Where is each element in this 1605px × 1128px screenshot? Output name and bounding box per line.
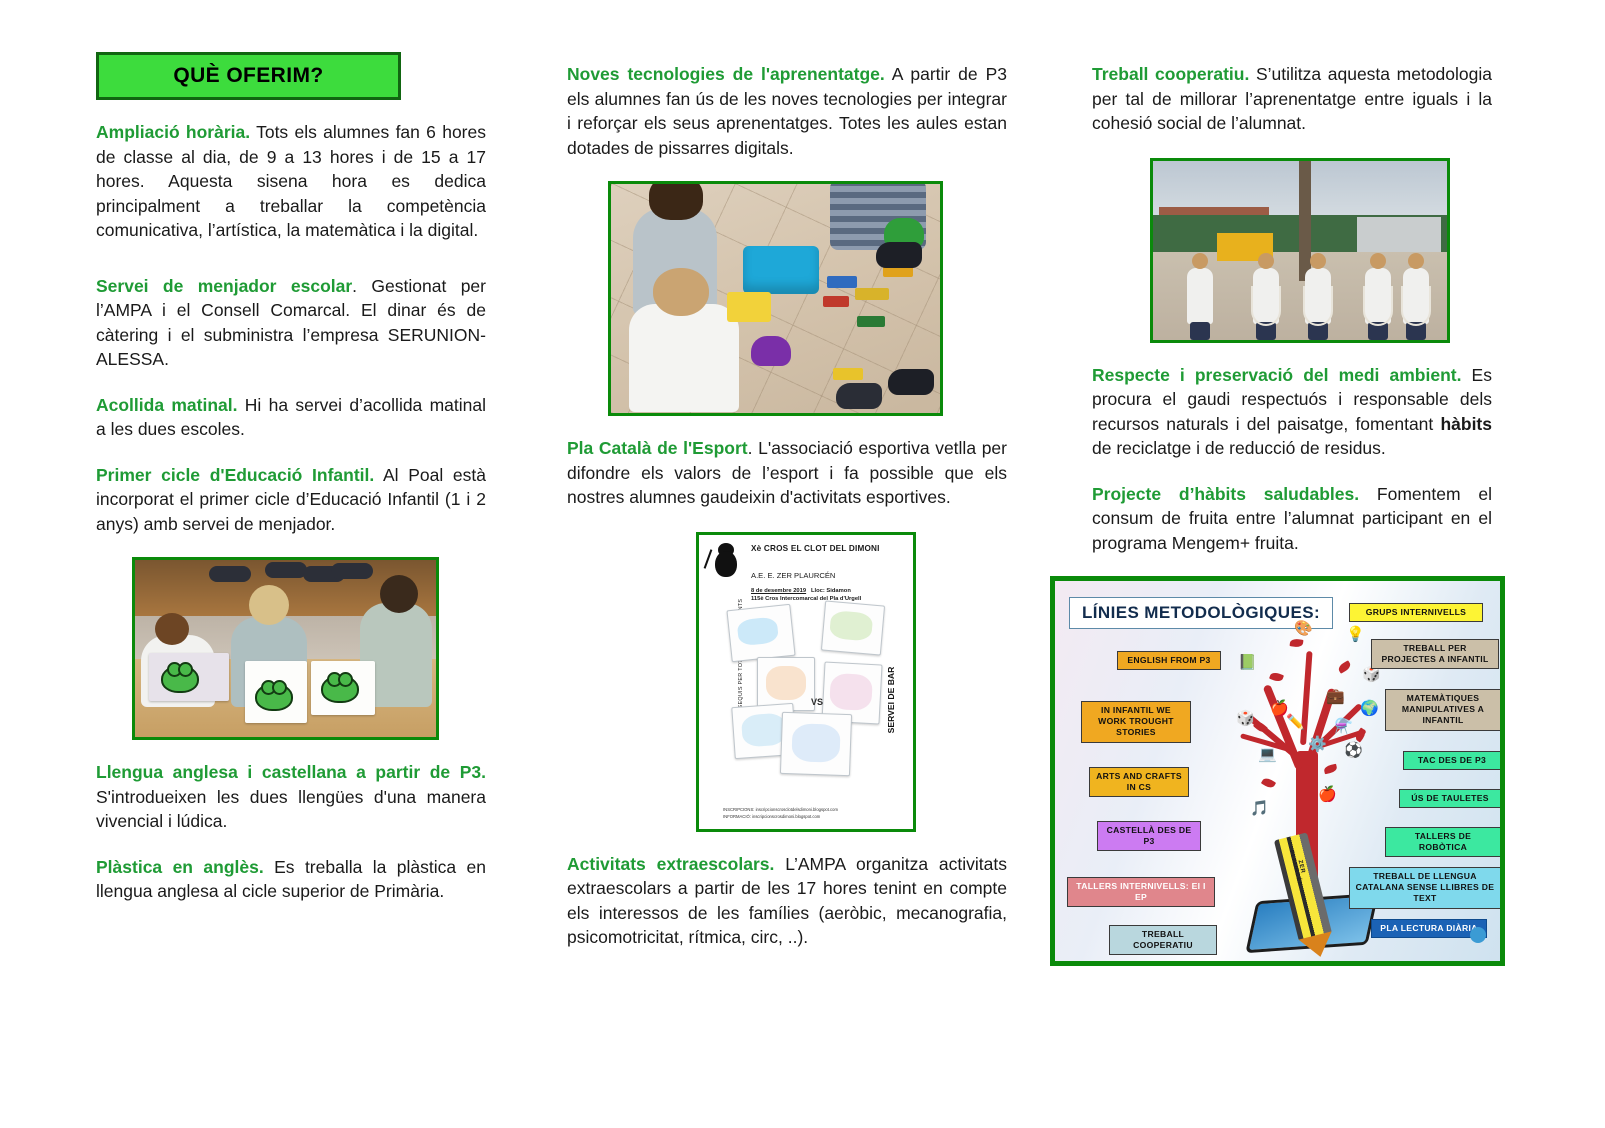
child-head [1258, 253, 1274, 269]
child-head [380, 575, 418, 613]
paragraph-ampliacio-horaria: Ampliació horària. Tots els alumnes fan … [96, 120, 486, 243]
child-figure [629, 304, 739, 412]
poster-cros-clot-del-dimoni: Xè CROS EL CLOT DEL DIMONI A.E. E. ZER P… [696, 532, 916, 832]
tree-branch [1300, 651, 1313, 745]
wooden-block [823, 296, 849, 307]
lead-ampliacio-horaria: Ampliació horària. [96, 122, 250, 142]
shoe [876, 242, 922, 268]
section-banner: QUÈ OFERIM? [96, 52, 401, 100]
frog-drawing [321, 675, 359, 703]
activity-card [727, 292, 771, 322]
course-map [821, 600, 885, 655]
brochure-page: QUÈ OFERIM? Ampliació horària. Tots els … [0, 0, 1605, 1128]
paragraph-pla-catala-esport: Pla Català de l'Esport. L'associació esp… [567, 436, 1007, 510]
skipping-rope [1251, 286, 1281, 326]
lead-activitats-extraescolars: Activitats extraescolars. [567, 854, 774, 874]
child-head [649, 181, 703, 220]
decorative-dot [1470, 927, 1486, 943]
shoe [836, 383, 882, 409]
body-medi-ambient-2: de reciclatge i de reducció de residus. [1092, 438, 1386, 458]
leaf [1261, 776, 1276, 789]
label-tallers-de-robotica: TALLERS DE ROBÒTICA [1385, 827, 1501, 857]
leaf [1290, 638, 1304, 648]
column-center: Noves tecnologies de l'aprenentatge. A p… [567, 0, 1007, 971]
leaf [1269, 671, 1284, 683]
label-treball-cooperatiu: TREBALL COOPERATIU [1109, 925, 1217, 955]
banner-title: QUÈ OFERIM? [173, 64, 323, 88]
wooden-block [855, 288, 889, 300]
child-figure [1187, 268, 1213, 324]
label-english-from-p3: ENGLISH FROM P3 [1117, 651, 1221, 670]
devil-icon [709, 543, 743, 583]
child-head [1310, 253, 1326, 269]
wooden-block [833, 368, 863, 380]
photo-classroom-blocks: Alumnes jugant a terra amb blocs de fust… [608, 181, 943, 416]
gear-icon: ⚙️ [1308, 737, 1327, 752]
soccer-ball-icon: ⚽ [1344, 743, 1363, 758]
shoe [888, 369, 934, 395]
child-head [653, 268, 709, 316]
skipping-rope [1303, 286, 1333, 326]
skipping-rope [1363, 286, 1393, 326]
child-head [249, 585, 289, 625]
lead-habits-saludables: Projecte d’hàbits saludables. [1092, 484, 1359, 504]
paragraph-noves-tecnologies: Noves tecnologies de l'aprenentatge. A p… [567, 62, 1007, 160]
poster-place: Lloc: Sidamon [811, 588, 851, 594]
globe-icon: 🌍 [1360, 701, 1379, 716]
infographic-inner: LÍNIES METODOLÒGIQUES: [1059, 585, 1496, 957]
paragraph-plastica-angles: Plàstica en anglès. Es treballa la plàst… [96, 855, 486, 904]
lead-acollida: Acollida matinal. [96, 395, 238, 415]
poster-vs-label: VS [811, 697, 823, 707]
lead-medi-ambient: Respecte i preservació del medi ambient. [1092, 365, 1461, 385]
photo-frogs-painting: Tres infants pintant granotes verdes sob… [132, 557, 439, 740]
label-treball-projectes-infantil: TREBALL PER PROJECTES A INFANTIL [1371, 639, 1499, 669]
label-castella-des-de-p3: CASTELLÀ DES DE P3 [1097, 821, 1201, 851]
paragraph-medi-ambient: Respecte i preservació del medi ambient.… [1092, 363, 1492, 461]
music-note-icon: 🎵 [1250, 801, 1269, 816]
label-tac-des-de-p3: TAC DES DE P3 [1403, 751, 1501, 770]
wooden-block [827, 276, 857, 288]
label-llengua-catalana-sense-llibres: TREBALL DE LLENGUA CATALANA SENSE LLIBRE… [1349, 867, 1501, 909]
body-llengua-anglesa: S'introdueixen les dues llengües d'una m… [96, 787, 486, 832]
paragraph-acollida: Acollida matinal. Hi ha servei d’acollid… [96, 393, 486, 442]
toy-bin [743, 246, 819, 294]
devil-body [715, 551, 737, 577]
flask-icon: ⚗️ [1334, 719, 1353, 734]
child-head [1408, 253, 1424, 269]
poster-side-right-text: SERVEI DE BAR [886, 640, 896, 760]
poster-footer-line1: INSCRIPCIONS: inscripcionscrosclotdelsdi… [723, 807, 838, 812]
briefcase-icon: 💼 [1326, 689, 1345, 704]
paragraph-llengua-anglesa: Llengua anglesa i castellana a partir de… [96, 760, 486, 834]
paragraph-primer-cicle: Primer cicle d'Educació Infantil. Al Poa… [96, 463, 486, 537]
poster-date: 8 de desembre 2019 [751, 588, 806, 594]
leaf [1337, 660, 1352, 673]
lead-noves-tecnologies: Noves tecnologies de l'aprenentatge. [567, 64, 885, 84]
label-matematiques-manipulatives: MATEMÀTIQUES MANIPULATIVES A INFANTIL [1385, 689, 1501, 731]
poster-title: Xè CROS EL CLOT DEL DIMONI [751, 543, 909, 555]
lead-menjador: Servei de menjador escolar [96, 276, 352, 296]
label-in-infantil-stories: IN INFANTIL WE WORK TROUGHT STORIES [1081, 701, 1191, 743]
pencil-tip [1299, 931, 1337, 961]
apple-icon: 🍎 [1318, 787, 1337, 802]
pitchfork-icon [704, 549, 713, 568]
poster-footer-line2: INFORMACIÓ: inscripcionscrosdimoni.blogs… [723, 814, 820, 819]
pencil-label: ZER PLAURCÉN [1287, 846, 1309, 890]
palette-icon: 🎨 [1294, 621, 1313, 636]
slipper-icon [209, 566, 251, 582]
paragraph-menjador: Servei de menjador escolar. Gestionat pe… [96, 274, 486, 372]
column-right: Treball cooperatiu. S’utilitza aquesta m… [1092, 0, 1492, 966]
label-tallers-internivells: TALLERS INTERNIVELLS: EI I EP [1067, 877, 1215, 907]
frog-drawing [161, 665, 199, 693]
label-grups-internivells: GRUPS INTERNIVELLS [1349, 603, 1483, 622]
child-head [155, 613, 189, 645]
lead-llengua-anglesa: Llengua anglesa i castellana a partir de… [96, 762, 486, 782]
infographic-linies-metodologiques: LÍNIES METODOLÒGIQUES: [1050, 576, 1505, 966]
beebot-robot [751, 336, 791, 366]
column-left: QUÈ OFERIM? Ampliació horària. Tots els … [96, 0, 486, 925]
dice-icon: 🎲 [1236, 711, 1255, 726]
pencil-icon: ✏️ [1286, 715, 1305, 730]
label-arts-and-crafts: ARTS AND CRAFTS IN CS [1089, 767, 1189, 797]
lead-plastica-angles: Plàstica en anglès. [96, 857, 264, 877]
child-head [1370, 253, 1386, 269]
frog-drawing [255, 683, 293, 711]
paragraph-treball-cooperatiu: Treball cooperatiu. S’utilitza aquesta m… [1092, 62, 1492, 136]
paragraph-activitats-extraescolars: Activitats extraescolars. L’AMPA organit… [567, 852, 1007, 950]
course-map [726, 603, 795, 661]
leaf [1323, 764, 1337, 775]
skipping-rope [1401, 286, 1431, 326]
laptop-icon: 💻 [1258, 747, 1277, 762]
slipper-icon [265, 562, 307, 578]
child-head [1192, 253, 1208, 269]
lead-primer-cicle: Primer cicle d'Educació Infantil. [96, 465, 374, 485]
bold-habits: hàbits [1440, 414, 1492, 434]
poster-map-collage: VS [727, 601, 883, 789]
poster-subtitle: A.E. E. ZER PLAURCÉN [751, 571, 909, 582]
lightbulb-icon: 💡 [1346, 627, 1365, 642]
slipper-icon [331, 563, 373, 579]
paragraph-habits-saludables: Projecte d’hàbits saludables. Fomentem e… [1092, 482, 1492, 556]
lead-treball-cooperatiu: Treball cooperatiu. [1092, 64, 1249, 84]
label-us-de-tauletes: ÚS DE TAULETES [1399, 789, 1501, 808]
poster-footer: INSCRIPCIONS: inscripcionscrosclotdelsdi… [723, 806, 903, 820]
wooden-block [857, 316, 885, 327]
lead-pla-catala-esport: Pla Català de l'Esport [567, 438, 748, 458]
photo-schoolyard-sport: Alumnes saltant a corda al pati de l'esc… [1150, 158, 1450, 343]
book-icon: 📗 [1238, 655, 1257, 670]
course-map [780, 711, 852, 775]
